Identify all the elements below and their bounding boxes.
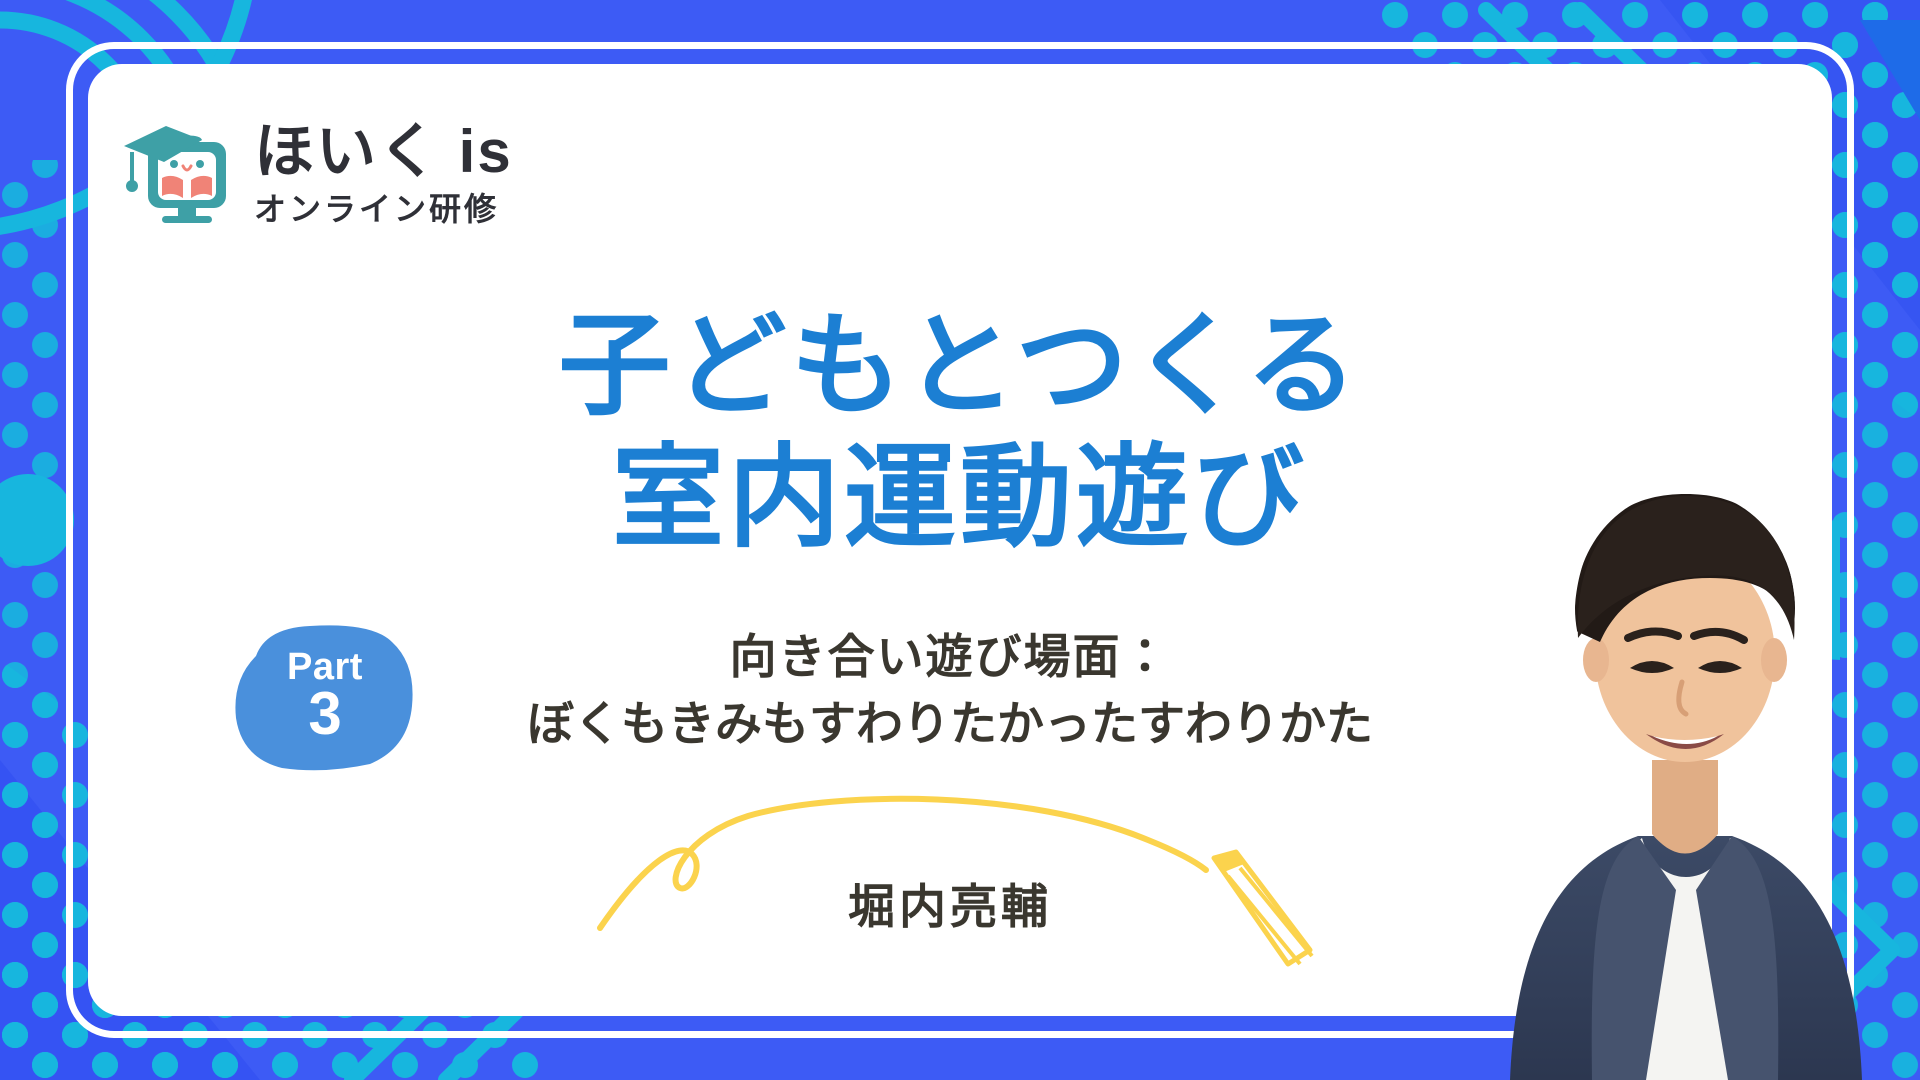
presenter-portrait xyxy=(1470,460,1900,1080)
graduation-cap-monitor-book-icon xyxy=(118,116,236,224)
subheadline-line-1: 向き合い遊び場面： xyxy=(420,628,1480,685)
slide-canvas: ほいく is オンライン研修 子どもとつくる 室内運動遊び Part 3 向き合… xyxy=(0,0,1920,1080)
logo-title: ほいく is xyxy=(254,122,513,182)
speaker-name: 堀内亮輔 xyxy=(420,868,1480,937)
polka-dot-left-column xyxy=(0,160,60,1060)
part-badge: Part 3 xyxy=(232,622,418,772)
subheadline: 向き合い遊び場面： ぼくもきみもすわりたかったすわりかた xyxy=(420,628,1480,753)
brand-logo[interactable]: ほいく is オンライン研修 xyxy=(118,116,513,225)
part-badge-number: 3 xyxy=(232,684,418,744)
logo-subtitle: オンライン研修 xyxy=(254,193,513,225)
subheadline-line-2: ぼくもきみもすわりたかったすわりかた xyxy=(420,695,1480,752)
